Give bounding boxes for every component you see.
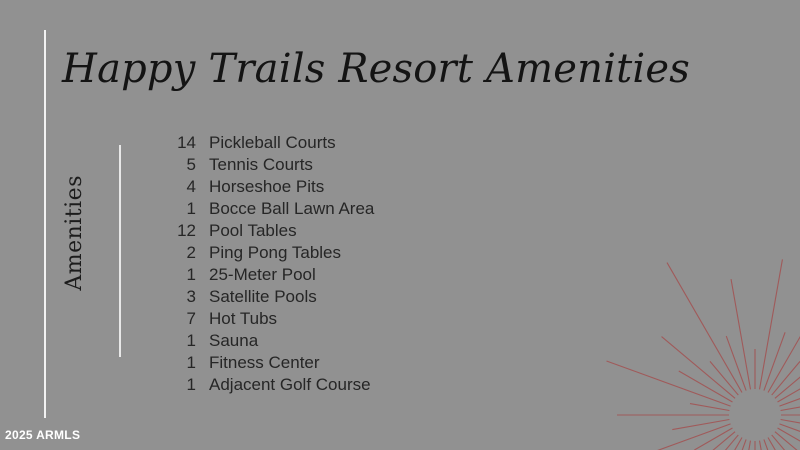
amenity-count: 1: [140, 331, 196, 351]
amenity-count: 2: [140, 243, 196, 263]
amenity-count: 5: [140, 155, 196, 175]
amenity-row: 7Hot Tubs: [140, 309, 560, 331]
amenity-count: 1: [140, 375, 196, 395]
amenity-row: 14Pickleball Courts: [140, 133, 560, 155]
amenity-label: Pool Tables: [196, 221, 297, 241]
amenity-count: 12: [140, 221, 196, 241]
watermark: 2025 ARMLS: [5, 428, 80, 442]
page-title: Happy Trails Resort Amenities: [62, 45, 690, 93]
amenity-row: 1Sauna: [140, 331, 560, 353]
amenity-count: 3: [140, 287, 196, 307]
sunburst-icon: [560, 245, 800, 450]
amenity-label: Sauna: [196, 331, 258, 351]
amenity-label: 25-Meter Pool: [196, 265, 316, 285]
amenity-count: 14: [140, 133, 196, 153]
amenity-row: 1Bocce Ball Lawn Area: [140, 199, 560, 221]
amenity-label: Ping Pong Tables: [196, 243, 341, 263]
amenity-row: 125-Meter Pool: [140, 265, 560, 287]
amenity-label: Bocce Ball Lawn Area: [196, 199, 374, 219]
amenity-label: Hot Tubs: [196, 309, 277, 329]
amenity-count: 1: [140, 353, 196, 373]
section-label-amenities: Amenities: [62, 175, 87, 291]
amenity-label: Pickleball Courts: [196, 133, 336, 153]
amenity-label: Tennis Courts: [196, 155, 313, 175]
amenity-row: 1Adjacent Golf Course: [140, 375, 560, 397]
amenity-label: Horseshoe Pits: [196, 177, 324, 197]
amenity-row: 3Satellite Pools: [140, 287, 560, 309]
amenity-label: Fitness Center: [196, 353, 320, 373]
amenities-list: 14Pickleball Courts5Tennis Courts4Horses…: [140, 133, 560, 397]
amenity-row: 5Tennis Courts: [140, 155, 560, 177]
amenity-row: 4Horseshoe Pits: [140, 177, 560, 199]
amenity-count: 1: [140, 199, 196, 219]
amenity-row: 12Pool Tables: [140, 221, 560, 243]
amenity-row: 1Fitness Center: [140, 353, 560, 375]
amenity-count: 7: [140, 309, 196, 329]
list-divider-rule: [119, 145, 121, 357]
slide-canvas: Happy Trails Resort Amenities Amenities …: [0, 0, 800, 450]
amenity-row: 2Ping Pong Tables: [140, 243, 560, 265]
amenity-count: 1: [140, 265, 196, 285]
amenity-count: 4: [140, 177, 196, 197]
amenity-label: Satellite Pools: [196, 287, 317, 307]
amenity-label: Adjacent Golf Course: [196, 375, 371, 395]
title-divider-rule: [44, 30, 46, 418]
